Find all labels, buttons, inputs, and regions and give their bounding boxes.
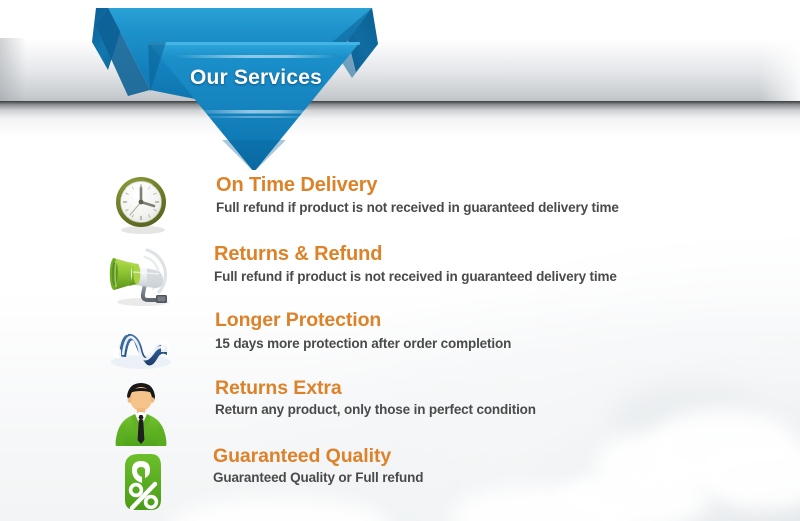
service-text: On Time Delivery Full refund if product … (216, 174, 619, 216)
megaphone-icon (101, 240, 183, 308)
percent-tag-icon (101, 450, 183, 518)
service-title: Returns & Refund (214, 243, 617, 265)
service-description: Full refund if product is not received i… (216, 200, 619, 216)
service-title: Longer Protection (215, 310, 511, 332)
service-text: Returns Extra Return any product, only t… (215, 378, 536, 417)
service-row: Returns Extra Return any product, only t… (0, 380, 800, 450)
ribbon-title: Our Services (190, 66, 370, 90)
service-description: Full refund if product is not received i… (214, 269, 617, 285)
services-infographic: Our Services (0, 0, 800, 521)
ribbon-sheen-lower (196, 110, 316, 114)
ribbon-sheen-upper (175, 55, 335, 58)
service-row: Returns & Refund Full refund if product … (0, 240, 800, 310)
service-title: On Time Delivery (216, 174, 619, 196)
services-list: On Time Delivery Full refund if product … (0, 170, 800, 516)
services-ribbon-banner: Our Services (0, 0, 460, 170)
service-row: Guaranteed Quality Guaranteed Quality or… (0, 450, 800, 516)
service-text: Longer Protection 15 days more protectio… (215, 310, 511, 351)
service-description: Return any product, only those in perfec… (215, 402, 536, 418)
service-description: 15 days more protection after order comp… (215, 336, 511, 352)
service-title: Guaranteed Quality (213, 446, 423, 468)
service-description: Guaranteed Quality or Full refund (213, 470, 423, 486)
person-suit-icon (101, 380, 183, 448)
header-bar-right-highlight (760, 38, 800, 101)
service-row: On Time Delivery Full refund if product … (0, 170, 800, 240)
service-row: Longer Protection 15 days more protectio… (0, 310, 800, 380)
service-text: Guaranteed Quality Guaranteed Quality or… (213, 446, 423, 485)
wave-chart-icon (101, 310, 183, 378)
clock-icon (101, 170, 183, 238)
service-title: Returns Extra (215, 378, 536, 400)
service-text: Returns & Refund Full refund if product … (214, 243, 617, 285)
